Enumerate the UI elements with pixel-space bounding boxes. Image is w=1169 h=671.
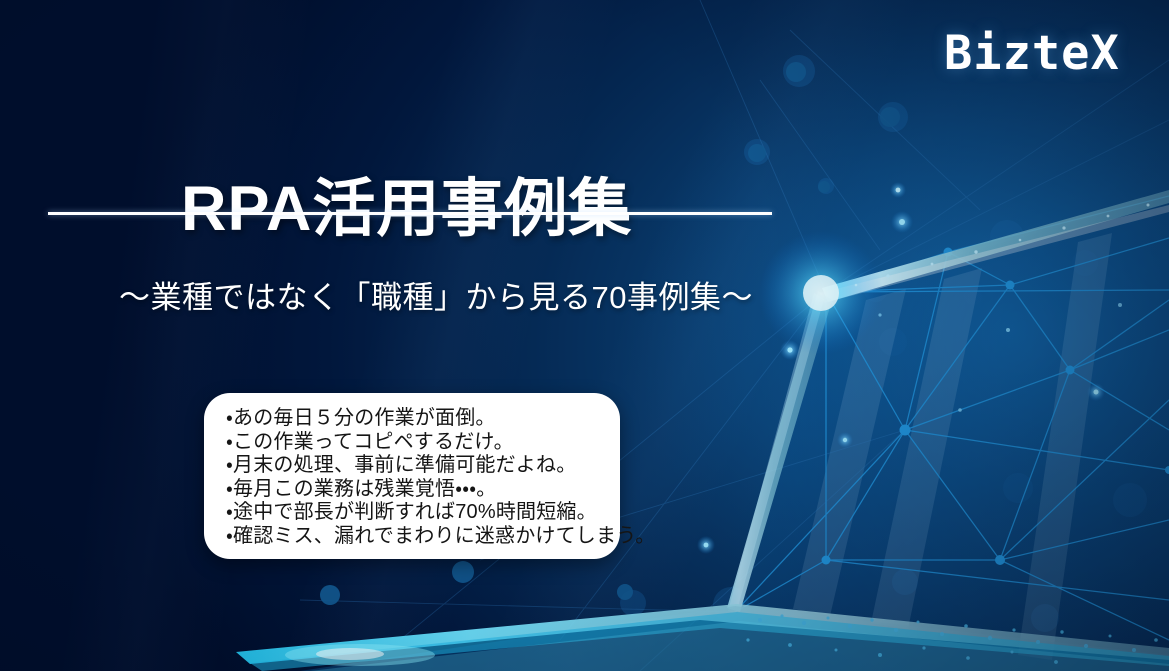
pain-point-item: ・月末の処理、事前に準備可能だよね。 — [226, 454, 602, 478]
presentation-slide: BizteX RPA活用事例集 〜業種ではなく「職種」から見る70事例集〜 ・あ… — [0, 0, 1169, 671]
page-title: RPA活用事例集 — [181, 175, 632, 243]
pain-point-item: ・確認ミス、漏れでまわりに迷惑かけてしまう。 — [226, 525, 602, 549]
pain-points-list: ・あの毎日５分の作業が面倒。・この作業ってコピペするだけ。・月末の処理、事前に準… — [226, 407, 602, 548]
tech-network-illustration — [0, 0, 1169, 671]
pain-point-item: ・毎月この業務は残業覚悟・・・。 — [226, 478, 602, 502]
pain-point-item: ・途中で部長が判断すれば70%時間短縮。 — [226, 501, 602, 525]
pain-point-item: ・この作業ってコピペするだけ。 — [226, 431, 602, 455]
pain-point-item: ・あの毎日５分の作業が面倒。 — [226, 407, 602, 431]
title-divider — [48, 212, 772, 215]
page-subtitle: 〜業種ではなく「職種」から見る70事例集〜 — [119, 279, 753, 316]
pain-points-callout: ・あの毎日５分の作業が面倒。・この作業ってコピペするだけ。・月末の処理、事前に準… — [204, 393, 620, 559]
biztex-logo: BizteX — [944, 30, 1120, 77]
